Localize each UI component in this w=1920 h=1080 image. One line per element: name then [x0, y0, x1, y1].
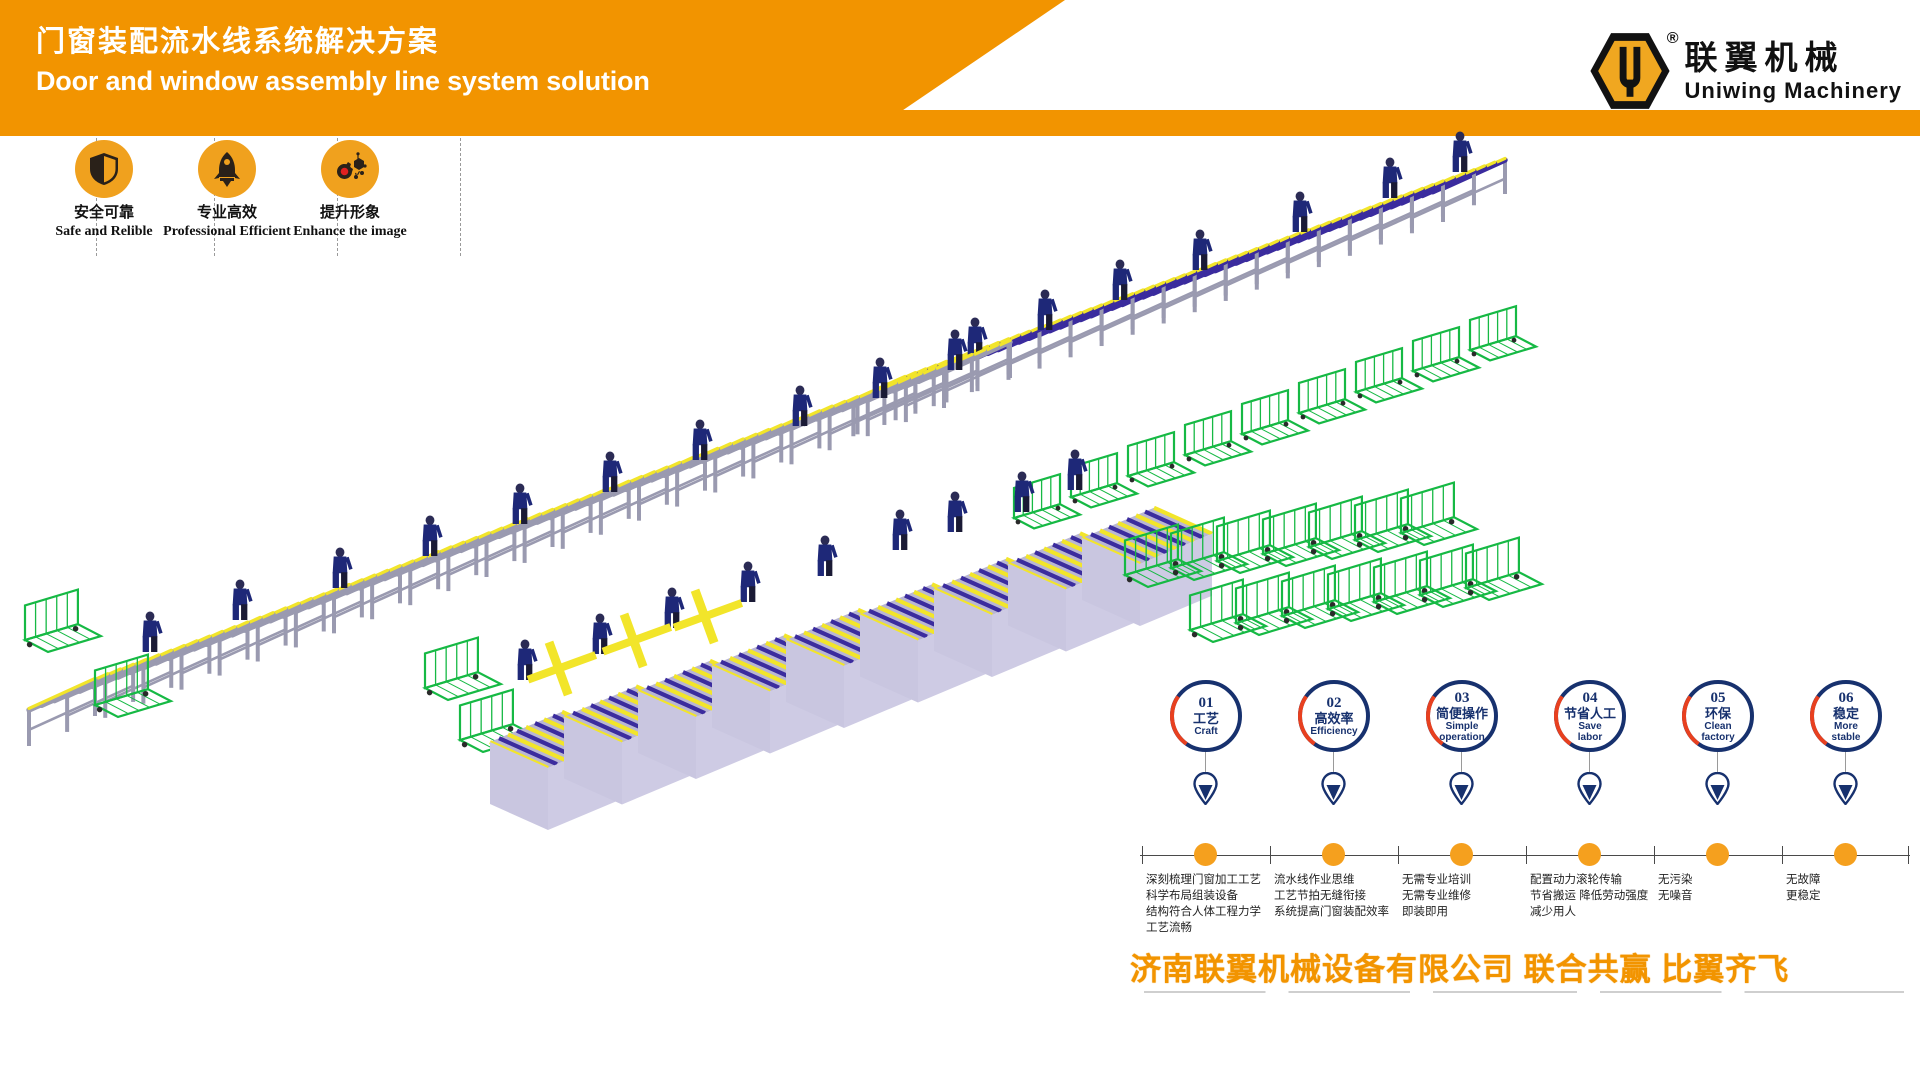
green-material-cart	[1470, 306, 1536, 360]
green-material-cart	[425, 638, 501, 700]
timeline-badge: 04节省人工Savelabor	[1554, 680, 1626, 752]
location-pin-icon	[1449, 772, 1474, 805]
timeline-node-04[interactable]: 04节省人工Savelabor配置动力滚轮传输节省搬运 降低劳动强度减少用人	[1530, 680, 1650, 752]
timeline-description: 流水线作业思维工艺节拍无缝衔接系统提高门窗装配效率	[1274, 872, 1396, 920]
worker-figure	[741, 561, 761, 602]
worker-figure	[1293, 191, 1313, 232]
worker-figure	[423, 515, 443, 556]
timeline-tick	[1398, 846, 1399, 864]
page-title-cn: 门窗装配流水线系统解决方案	[36, 22, 650, 62]
timeline-description: 无需专业培训无需专业维修即装即用	[1402, 872, 1524, 920]
timeline-axis	[1140, 855, 1910, 856]
timeline-badge: 06稳定Morestable	[1810, 680, 1882, 752]
brand-wordmark: 联翼机械 Uniwing Machinery	[1685, 39, 1902, 104]
yellow-window-frame	[673, 589, 743, 645]
timeline-stem	[1461, 752, 1462, 774]
timeline-dot	[1450, 843, 1473, 866]
worker-figure	[893, 509, 913, 550]
timeline-badge: 05环保Cleanfactory	[1682, 680, 1754, 752]
brand-logo: ® 联翼机械 Uniwing Machinery	[1587, 26, 1902, 116]
timeline-stem	[1845, 752, 1846, 774]
timeline-tick	[1908, 846, 1909, 864]
timeline-dot	[1322, 843, 1345, 866]
green-material-cart	[25, 590, 101, 652]
page-title-en: Door and window assembly line system sol…	[36, 62, 650, 100]
timeline-tick	[1526, 846, 1527, 864]
timeline-tick	[1654, 846, 1655, 864]
timeline-badge: 03简便操作Simpleoperation	[1426, 680, 1498, 752]
timeline-description: 配置动力滚轮传输节省搬运 降低劳动强度减少用人	[1530, 872, 1652, 920]
timeline-badge: 02高效率Efficiency	[1298, 680, 1370, 752]
timeline-badge: 01工艺Craft	[1170, 680, 1242, 752]
worker-figure	[1453, 131, 1473, 172]
worker-figure	[143, 611, 163, 652]
brand-name-en: Uniwing Machinery	[1685, 77, 1902, 104]
benefits-timeline: 01工艺Craft深刻梳理门窗加工工艺科学布局组装设备结构符合人体工程力学工艺流…	[1130, 680, 1920, 960]
timeline-description: 无污染无噪音	[1658, 872, 1780, 904]
worker-figure	[1383, 157, 1403, 198]
location-pin-icon	[1193, 772, 1218, 805]
worker-figure	[948, 491, 968, 532]
timeline-dot	[1194, 843, 1217, 866]
footer-slogan-block: 济南联翼机械设备有限公司 联合共赢 比翼齐飞	[1130, 950, 1920, 1010]
timeline-stem	[1333, 752, 1334, 774]
registered-trademark-icon: ®	[1667, 30, 1679, 48]
timeline-node-01[interactable]: 01工艺Craft深刻梳理门窗加工工艺科学布局组装设备结构符合人体工程力学工艺流…	[1146, 680, 1266, 752]
timeline-node-02[interactable]: 02高效率Efficiency流水线作业思维工艺节拍无缝衔接系统提高门窗装配效率	[1274, 680, 1394, 752]
timeline-dot	[1834, 843, 1857, 866]
timeline-node-06[interactable]: 06稳定Morestable无故障更稳定	[1786, 680, 1906, 752]
timeline-node-03[interactable]: 03简便操作Simpleoperation无需专业培训无需专业维修即装即用	[1402, 680, 1522, 752]
worker-figure	[333, 547, 353, 588]
location-pin-icon	[1321, 772, 1346, 805]
worker-figure	[1193, 229, 1213, 270]
worker-figure	[1015, 471, 1035, 512]
timeline-tick	[1782, 846, 1783, 864]
timeline-dot	[1578, 843, 1601, 866]
location-pin-icon	[1577, 772, 1602, 805]
location-pin-icon	[1705, 772, 1730, 805]
timeline-description: 深刻梳理门窗加工工艺科学布局组装设备结构符合人体工程力学工艺流畅	[1146, 872, 1268, 936]
timeline-dot	[1706, 843, 1729, 866]
yellow-window-frame	[602, 613, 672, 669]
worker-figure	[1068, 449, 1088, 490]
uniwing-hexagon-u-logo-icon: ®	[1587, 28, 1673, 114]
worker-figure	[818, 535, 838, 576]
timeline-stem	[1205, 752, 1206, 774]
header-text-block: 门窗装配流水线系统解决方案 Door and window assembly l…	[36, 22, 650, 100]
worker-figure	[233, 579, 253, 620]
timeline-node-05[interactable]: 05环保Cleanfactory无污染无噪音	[1658, 680, 1778, 752]
timeline-stem	[1589, 752, 1590, 774]
timeline-tick	[1142, 846, 1143, 864]
timeline-stem	[1717, 752, 1718, 774]
brand-name-cn: 联翼机械	[1685, 39, 1902, 77]
timeline-description: 无故障更稳定	[1786, 872, 1908, 904]
location-pin-icon	[1833, 772, 1858, 805]
slogan-underline	[1144, 991, 1904, 993]
company-slogan: 济南联翼机械设备有限公司 联合共赢 比翼齐飞	[1130, 950, 1920, 990]
timeline-tick	[1270, 846, 1271, 864]
yellow-window-frame	[527, 641, 597, 697]
